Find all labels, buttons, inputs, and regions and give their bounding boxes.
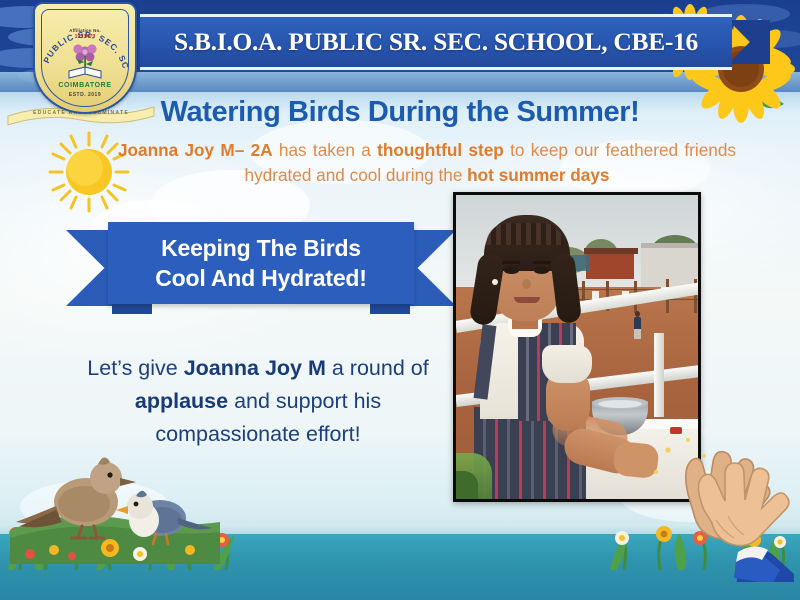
closing-paragraph: Let’s give Joanna Joy M a round of appla… <box>62 352 454 451</box>
crest-city-label: COIMBATORE <box>33 82 137 89</box>
ribbon-tail-shape <box>728 20 770 64</box>
school-title-ribbon: S.B.I.O.A. PUBLIC SR. SEC. SCHOOL, CBE-1… <box>140 14 770 70</box>
closing-text-2: a round of <box>326 356 429 380</box>
clapping-hands-icon <box>644 432 794 582</box>
closing-student-name: Joanna Joy M <box>184 356 326 380</box>
page-title: Watering Birds During the Summer! <box>110 96 690 129</box>
crest-affiliation-number: 1931479 <box>33 34 137 40</box>
ribbon-line-1: Keeping The Birds <box>161 233 361 263</box>
birds-icon <box>10 444 220 564</box>
crest-flower-book-icon <box>61 41 109 83</box>
school-logo-crest: SBIOA PUBLIC SR. SEC. SCHOOL Affiliation… <box>33 2 137 114</box>
ribbon-left-foot <box>112 304 152 314</box>
closing-text-1: Let’s give <box>87 356 183 380</box>
subtitle-paragraph: Joanna Joy M– 2A has taken a thoughtful … <box>118 138 736 188</box>
crest-affiliation-label: Affiliation No. <box>33 28 137 33</box>
ribbon-right-foot <box>370 304 410 314</box>
school-title: S.B.I.O.A. PUBLIC SR. SEC. SCHOOL, CBE-1… <box>140 14 732 70</box>
subtitle-student-name: Joanna Joy M– 2A <box>118 140 273 160</box>
ribbon-line-2: Cool And Hydrated! <box>155 263 367 293</box>
closing-highlight: applause <box>135 389 228 413</box>
subtitle-highlight-1: thoughtful step <box>377 140 504 160</box>
subtitle-text-1: has taken a <box>273 140 378 160</box>
subtitle-highlight-2: hot summer days <box>467 165 609 185</box>
highlight-ribbon-banner: Keeping The Birds Cool And Hydrated! <box>66 222 456 314</box>
crest-established-label: ESTD. 2019 <box>33 92 137 98</box>
ribbon-center-panel: Keeping The Birds Cool And Hydrated! <box>108 222 414 304</box>
school-achievement-poster: SBIOA PUBLIC SR. SEC. SCHOOL Affiliation… <box>0 0 800 600</box>
